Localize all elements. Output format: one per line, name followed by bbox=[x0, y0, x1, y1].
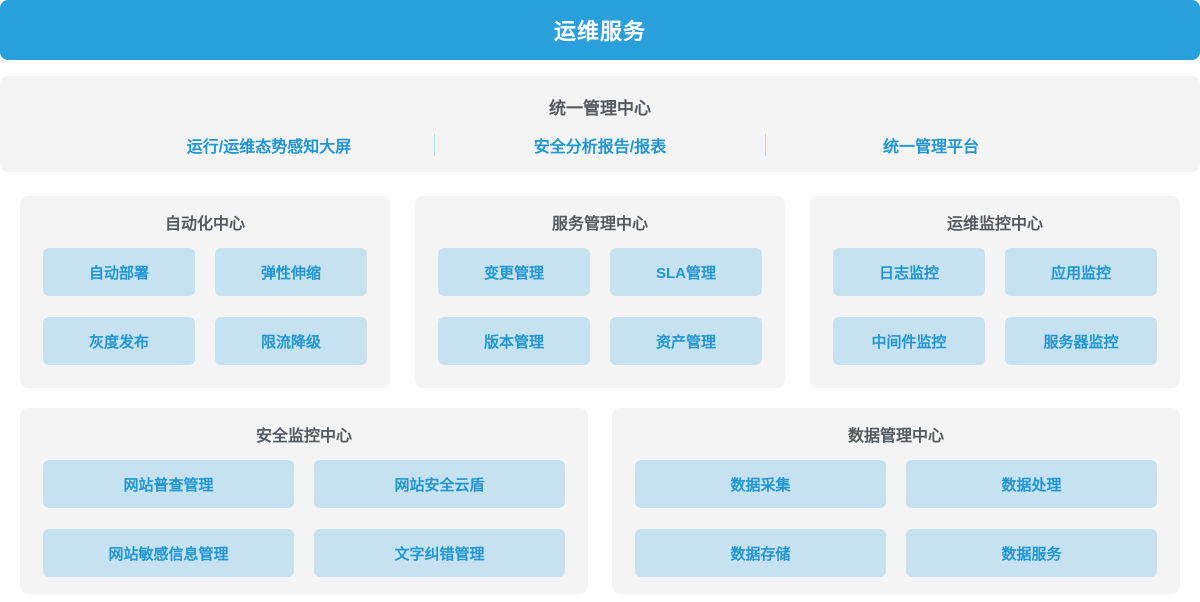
tile-server-monitoring[interactable]: 服务器监控 bbox=[1005, 317, 1157, 365]
diagram-root: 运维服务 统一管理中心 运行/运维态势感知大屏 安全分析报告/报表 统一管理平台… bbox=[0, 0, 1200, 602]
unified-management-center-title: 统一管理中心 bbox=[549, 94, 651, 119]
tile-gray-release[interactable]: 灰度发布 bbox=[43, 317, 195, 365]
tile-middleware-monitoring[interactable]: 中间件监控 bbox=[833, 317, 985, 365]
tile-website-census-management[interactable]: 网站普查管理 bbox=[43, 460, 294, 508]
tile-application-monitoring[interactable]: 应用监控 bbox=[1005, 248, 1157, 296]
tile-text-correction-management[interactable]: 文字纠错管理 bbox=[314, 529, 565, 577]
card-title: 安全监控中心 bbox=[256, 422, 352, 446]
card-data-management-center: 数据管理中心 数据采集 数据处理 数据存储 数据服务 bbox=[612, 408, 1180, 594]
mgmt-link-security-report[interactable]: 安全分析报告/报表 bbox=[435, 133, 765, 157]
unified-management-center-band: 统一管理中心 运行/运维态势感知大屏 安全分析报告/报表 统一管理平台 bbox=[0, 76, 1200, 172]
card-ops-monitoring-center: 运维监控中心 日志监控 应用监控 中间件监控 服务器监控 bbox=[810, 196, 1180, 388]
tile-grid: 变更管理 SLA管理 版本管理 资产管理 bbox=[438, 248, 762, 365]
tile-change-management[interactable]: 变更管理 bbox=[438, 248, 590, 296]
page-title: 运维服务 bbox=[554, 14, 646, 46]
center-row-top: 自动化中心 自动部署 弹性伸缩 灰度发布 限流降级 服务管理中心 变更管理 SL… bbox=[20, 196, 1180, 388]
card-security-monitoring-center: 安全监控中心 网站普查管理 网站安全云盾 网站敏感信息管理 文字纠错管理 bbox=[20, 408, 588, 594]
tile-website-sensitive-info-management[interactable]: 网站敏感信息管理 bbox=[43, 529, 294, 577]
tile-data-service[interactable]: 数据服务 bbox=[906, 529, 1157, 577]
card-service-management-center: 服务管理中心 变更管理 SLA管理 版本管理 资产管理 bbox=[415, 196, 785, 388]
tile-asset-management[interactable]: 资产管理 bbox=[610, 317, 762, 365]
tile-grid: 自动部署 弹性伸缩 灰度发布 限流降级 bbox=[43, 248, 367, 365]
tile-version-management[interactable]: 版本管理 bbox=[438, 317, 590, 365]
tile-elastic-scaling[interactable]: 弹性伸缩 bbox=[215, 248, 367, 296]
tile-grid: 数据采集 数据处理 数据存储 数据服务 bbox=[635, 460, 1157, 577]
card-title: 自动化中心 bbox=[165, 210, 245, 234]
tile-data-collection[interactable]: 数据采集 bbox=[635, 460, 886, 508]
card-title: 数据管理中心 bbox=[848, 422, 944, 446]
card-title: 服务管理中心 bbox=[552, 210, 648, 234]
tile-data-storage[interactable]: 数据存储 bbox=[635, 529, 886, 577]
unified-management-center-links: 运行/运维态势感知大屏 安全分析报告/报表 统一管理平台 bbox=[0, 133, 1200, 157]
tile-grid: 日志监控 应用监控 中间件监控 服务器监控 bbox=[833, 248, 1157, 365]
tile-grid: 网站普查管理 网站安全云盾 网站敏感信息管理 文字纠错管理 bbox=[43, 460, 565, 577]
tile-sla-management[interactable]: SLA管理 bbox=[610, 248, 762, 296]
mgmt-link-situation-dashboard[interactable]: 运行/运维态势感知大屏 bbox=[104, 133, 434, 157]
tile-data-processing[interactable]: 数据处理 bbox=[906, 460, 1157, 508]
mgmt-link-unified-platform[interactable]: 统一管理平台 bbox=[766, 133, 1096, 157]
tile-log-monitoring[interactable]: 日志监控 bbox=[833, 248, 985, 296]
card-automation-center: 自动化中心 自动部署 弹性伸缩 灰度发布 限流降级 bbox=[20, 196, 390, 388]
card-title: 运维监控中心 bbox=[947, 210, 1043, 234]
page-banner: 运维服务 bbox=[0, 0, 1200, 60]
tile-auto-deploy[interactable]: 自动部署 bbox=[43, 248, 195, 296]
center-row-bottom: 安全监控中心 网站普查管理 网站安全云盾 网站敏感信息管理 文字纠错管理 数据管… bbox=[20, 408, 1180, 594]
tile-rate-limit-degrade[interactable]: 限流降级 bbox=[215, 317, 367, 365]
tile-website-security-cloud-shield[interactable]: 网站安全云盾 bbox=[314, 460, 565, 508]
